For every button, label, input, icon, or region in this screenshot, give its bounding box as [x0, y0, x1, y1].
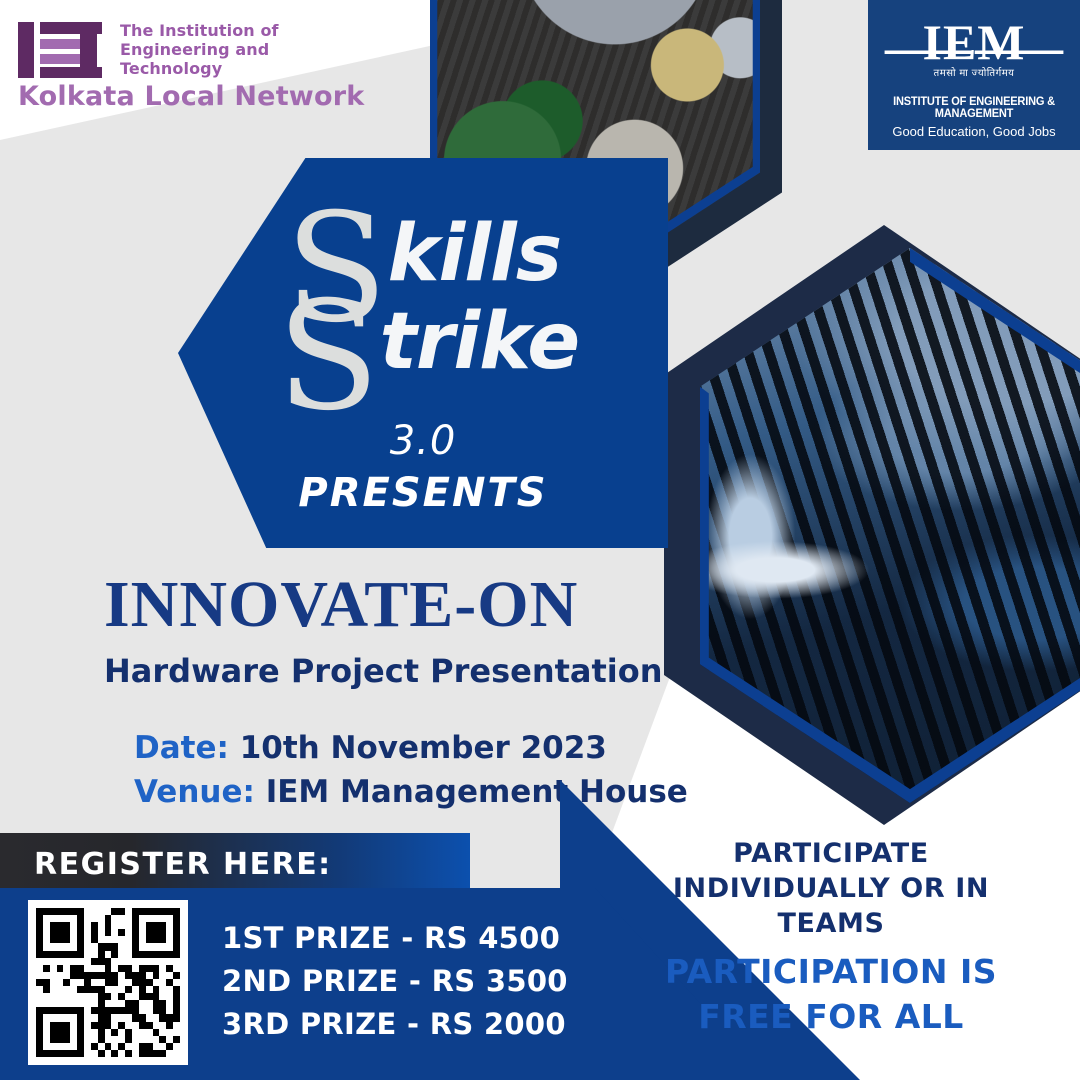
register-heading: REGISTER HERE: [34, 847, 332, 882]
iem-institution-name: INSTITUTE OF ENGINEERING & MANAGEMENT [872, 96, 1076, 120]
brand-cap-s2: S [277, 282, 380, 432]
free-entry-note: PARTICIPATION IS FREE FOR ALL [616, 950, 1046, 1040]
event-subtitle: Hardware Project Presentation [104, 652, 704, 690]
event-details: INNOVATE-ON Hardware Project Presentatio… [104, 572, 704, 814]
laurel-wreath-right-icon: ⸺ [972, 22, 1066, 78]
brand-version: 3.0 [178, 418, 668, 464]
iet-chapter-name: Kolkata Local Network [18, 81, 358, 112]
prize-item: 2ND PRIZE - RS 3500 [222, 960, 568, 1003]
laurel-wreath-left-icon: ⸺ [882, 22, 976, 78]
free-line-1: PARTICIPATION IS [616, 950, 1046, 995]
qr-code[interactable] [28, 900, 188, 1065]
event-title: INNOVATE-ON [104, 572, 704, 638]
brand-presents-label: PRESENTS [178, 470, 668, 516]
iet-logo: The Institution of Engineering and Techn… [18, 22, 358, 112]
event-venue-row: Venue: IEM Management House [134, 770, 704, 814]
brand-line-strike: Strike [188, 282, 668, 432]
event-date-value: 10th November 2023 [240, 730, 607, 766]
participation-note: PARTICIPATE INDIVIDUALLY OR IN TEAMS [616, 836, 1046, 941]
brand-word-trike: trike [380, 303, 579, 381]
iet-line-1: The Institution of [120, 22, 358, 41]
event-venue-value: IEM Management House [266, 774, 688, 810]
qr-code-grid [36, 908, 180, 1057]
prize-item: 1ST PRIZE - RS 4500 [222, 917, 568, 960]
free-line-2: FREE FOR ALL [616, 995, 1046, 1040]
participate-line-1: PARTICIPATE [616, 836, 1046, 871]
prize-list: 1ST PRIZE - RS 4500 2ND PRIZE - RS 3500 … [222, 917, 568, 1046]
event-date-row: Date: 10th November 2023 [134, 726, 704, 770]
iem-tagline: Good Education, Good Jobs [868, 124, 1080, 139]
iem-logo: ⸺ ⸺ IEM तमसो मा ज्योतिर्गमय INSTITUTE OF… [868, 0, 1080, 150]
iem-mark-icon: ⸺ ⸺ IEM तमसो मा ज्योतिर्गमय [868, 16, 1080, 96]
event-date-label: Date: [134, 730, 229, 766]
event-meta: Date: 10th November 2023 Venue: IEM Mana… [104, 726, 704, 814]
prize-item: 3RD PRIZE - RS 2000 [222, 1003, 568, 1046]
iet-line-2: Engineering and Technology [120, 41, 358, 79]
iet-institution-name: The Institution of Engineering and Techn… [120, 22, 358, 79]
participate-line-2: INDIVIDUALLY OR IN TEAMS [616, 871, 1046, 941]
iet-mark-icon [18, 22, 110, 78]
event-poster: The Institution of Engineering and Techn… [0, 0, 1080, 1080]
event-venue-label: Venue: [134, 774, 255, 810]
